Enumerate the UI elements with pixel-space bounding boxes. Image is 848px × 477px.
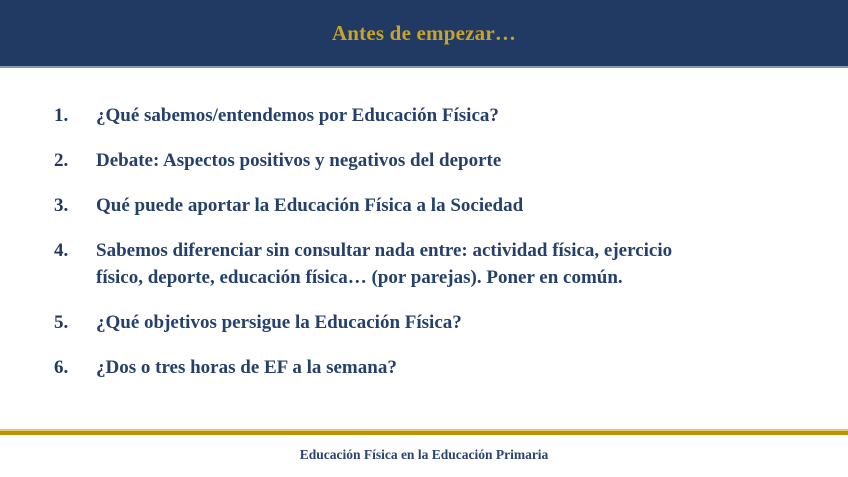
list-item-text: ¿Qué sabemos/entendemos por Educación Fí… — [96, 102, 711, 129]
agenda-list: 1. ¿Qué sabemos/entendemos por Educación… — [0, 102, 848, 381]
list-item: 2. Debate: Aspectos positivos y negativo… — [0, 147, 848, 174]
list-item-text: ¿Qué objetivos persigue la Educación Fís… — [96, 309, 711, 336]
list-item-text: ¿Dos o tres horas de EF a la semana? — [96, 354, 711, 381]
list-item: 5. ¿Qué objetivos persigue la Educación … — [0, 309, 848, 336]
list-item: 4. Sabemos diferenciar sin consultar nad… — [0, 237, 848, 291]
slide-content: 1. ¿Qué sabemos/entendemos por Educación… — [0, 68, 848, 477]
list-item-number: 3. — [0, 192, 96, 219]
list-item: 1. ¿Qué sabemos/entendemos por Educación… — [0, 102, 848, 129]
list-item-text: Debate: Aspectos positivos y negativos d… — [96, 147, 711, 174]
slide: Antes de empezar… 1. ¿Qué sabemos/entend… — [0, 0, 848, 477]
list-item-number: 5. — [0, 309, 96, 336]
footer-text: Educación Física en la Educación Primari… — [0, 435, 848, 463]
list-item-number: 1. — [0, 102, 96, 129]
slide-footer: Educación Física en la Educación Primari… — [0, 429, 848, 477]
list-item-number: 2. — [0, 147, 96, 174]
slide-header-band: Antes de empezar… — [0, 0, 848, 66]
slide-title: Antes de empezar… — [332, 23, 516, 44]
list-item: 6. ¿Dos o tres horas de EF a la semana? — [0, 354, 848, 381]
list-item-text: Sabemos diferenciar sin consultar nada e… — [96, 237, 711, 291]
list-item-text: Qué puede aportar la Educación Física a … — [96, 192, 711, 219]
list-item: 3. Qué puede aportar la Educación Física… — [0, 192, 848, 219]
list-item-number: 6. — [0, 354, 96, 381]
list-item-number: 4. — [0, 237, 96, 264]
